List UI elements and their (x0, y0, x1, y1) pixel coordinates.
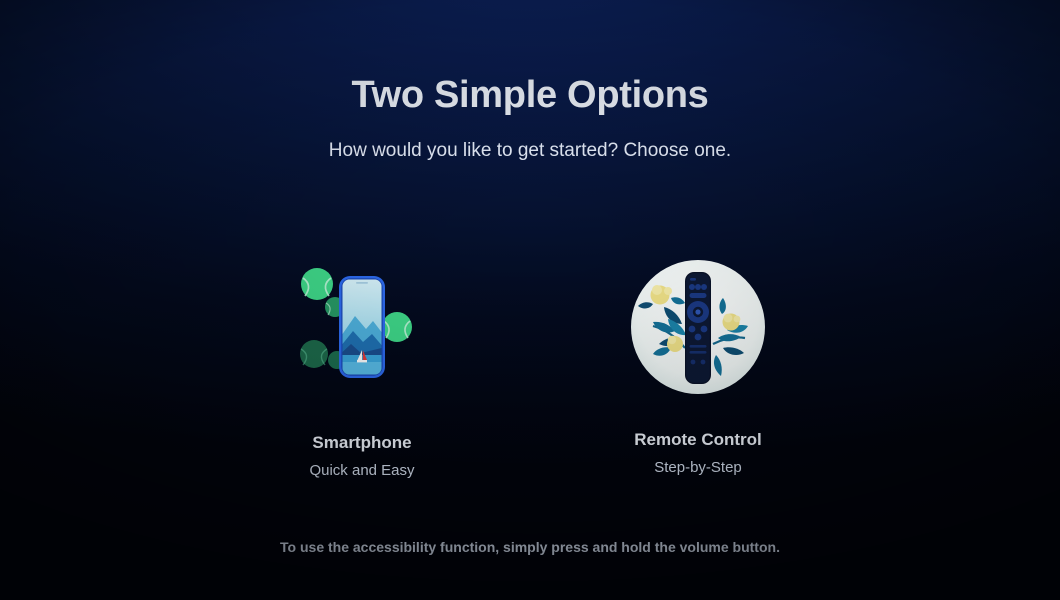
options-row: Smartphone Quick and Easy (0, 252, 1060, 479)
option-smartphone-label: Smartphone (312, 402, 411, 453)
page-subtitle: How would you like to get started? Choos… (0, 122, 1060, 164)
accent-ball-right (382, 312, 412, 342)
header: Two Simple Options How would you like to… (0, 68, 1060, 164)
accessibility-hint: To use the accessibility function, simpl… (0, 536, 1060, 558)
footer: To use the accessibility function, simpl… (0, 536, 1060, 558)
remote-control-icon (623, 252, 773, 402)
option-smartphone-sublabel: Quick and Easy (309, 453, 414, 479)
option-remote-control[interactable]: Remote Control Step-by-Step (603, 252, 793, 476)
option-remote-sublabel: Step-by-Step (654, 450, 742, 476)
option-remote-label: Remote Control (634, 402, 762, 450)
smartphone-art-wrapper (287, 252, 437, 402)
smartphone-icon (287, 252, 437, 402)
remote-body (685, 272, 711, 384)
remote-art-wrapper (623, 252, 773, 402)
phone-wallpaper (343, 280, 382, 376)
accent-ball-lower-left (300, 340, 328, 368)
page-title: Two Simple Options (0, 68, 1060, 122)
option-smartphone[interactable]: Smartphone Quick and Easy (267, 252, 457, 479)
setup-screen: Two Simple Options How would you like to… (0, 0, 1060, 600)
accent-ball-upper-left (301, 268, 333, 300)
